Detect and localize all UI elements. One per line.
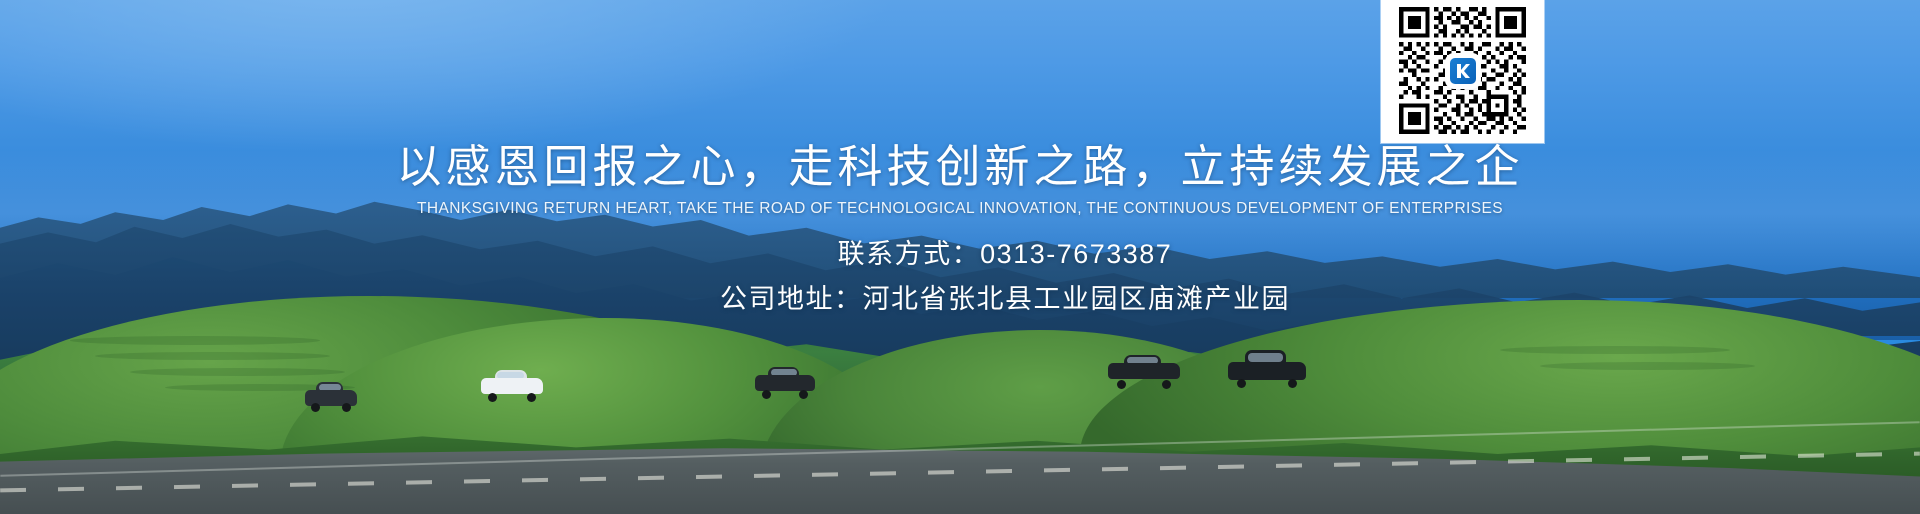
banner-text-block: 以感恩回报之心，走科技创新之路，立持续发展之企 THANKSGIVING RET… [0,0,1920,514]
banner-headline: 以感恩回报之心，走科技创新之路，立持续发展之企 [0,141,1920,193]
promo-banner: 以感恩回报之心，走科技创新之路，立持续发展之企 THANKSGIVING RET… [0,0,1920,514]
company-address-line: 公司地址：河北省张北县工业园区庙滩产业园 [0,279,1920,319]
banner-subheadline: THANKSGIVING RETURN HEART, TAKE THE ROAD… [0,198,1920,220]
contact-phone-line: 联系方式：0313-7673387 [0,234,1920,274]
